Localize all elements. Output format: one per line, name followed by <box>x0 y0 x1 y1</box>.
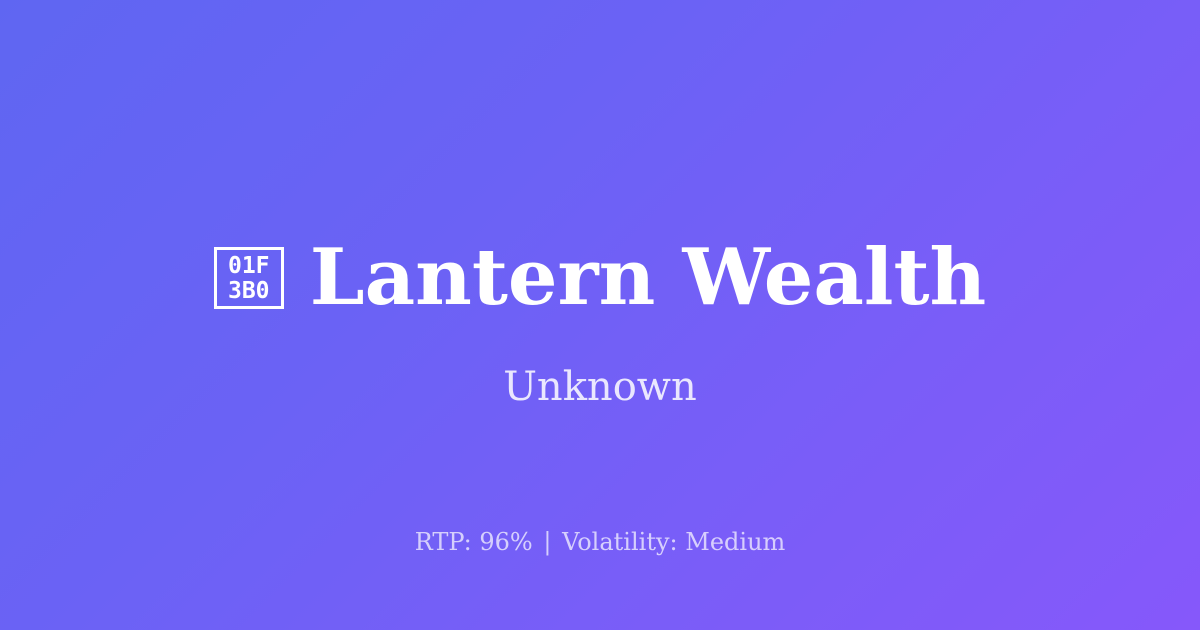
game-meta-line: RTP: 96% | Volatility: Medium <box>0 527 1200 558</box>
page-title: Lantern Wealth <box>310 232 986 324</box>
rtp-label: RTP: <box>415 528 472 556</box>
codepoint-hex-top: 01F <box>228 254 270 279</box>
codepoint-hex-bottom: 3B0 <box>228 279 270 304</box>
volatility-label: Volatility: <box>562 528 678 556</box>
volatility-value: Medium <box>685 528 785 556</box>
game-provider-subtitle: Unknown <box>0 362 1200 412</box>
game-preview-card: 01F 3B0 Lantern Wealth Unknown RTP: 96% … <box>0 0 1200 630</box>
rtp-value: 96% <box>479 528 532 556</box>
meta-separator: | <box>540 528 554 556</box>
title-row: 01F 3B0 Lantern Wealth <box>0 232 1200 324</box>
slot-machine-icon: 01F 3B0 <box>214 247 284 309</box>
